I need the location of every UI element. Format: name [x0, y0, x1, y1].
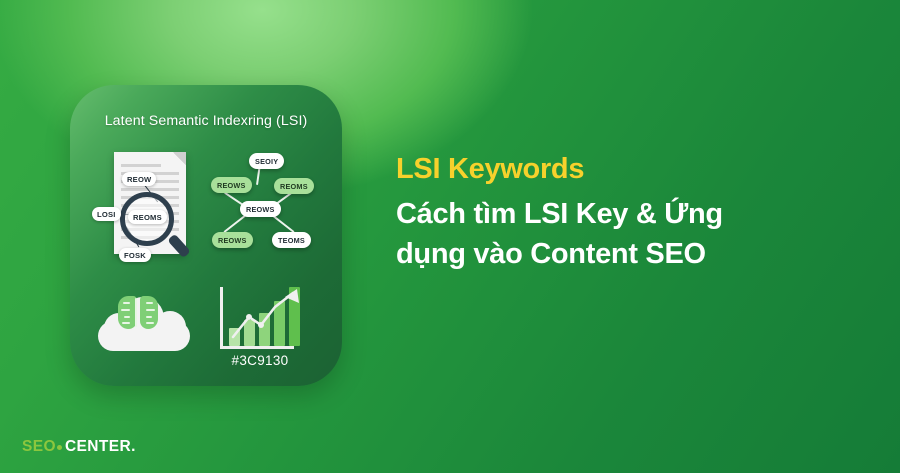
mindmap-illustration: SEOIY REOWS REOMS REOWS REOWS TEOMS: [210, 148, 322, 270]
growth-chart-illustration: #3C9130: [210, 283, 322, 369]
document-fold-corner: [173, 152, 186, 165]
logo-dot-icon: [57, 445, 62, 450]
brain-left-hemisphere: [118, 296, 137, 329]
mindmap-node-left: REOWS: [211, 177, 252, 193]
mindmap-node-right: REOMS: [274, 178, 314, 194]
brand-logo[interactable]: SEO CENTER.: [22, 438, 136, 456]
doc-tag-reoms: REOMS: [128, 210, 167, 224]
headline-line-1: Cách tìm LSI Key & Ứng: [396, 194, 876, 234]
promo-banner: Latent Semantic Indexring (LSI): [0, 0, 900, 473]
document-search-illustration: REOW LOSI REOMS FOSK: [92, 148, 210, 270]
mindmap-node-bottom-right: TEOMS: [272, 232, 311, 248]
doc-tag-reow: REOW: [122, 172, 156, 186]
illustration-card: Latent Semantic Indexring (LSI): [70, 85, 342, 386]
headline-eyebrow: LSI Keywords: [396, 152, 876, 186]
mindmap-node-center: REOWS: [240, 201, 281, 217]
headline-block: LSI Keywords Cách tìm LSI Key & Ứng dụng…: [396, 152, 876, 274]
mindmap-node-bottom-left: REOWS: [212, 232, 253, 248]
mindmap-node-top: SEOIY: [249, 153, 284, 169]
card-title: Latent Semantic Indexring (LSI): [70, 113, 342, 129]
logo-primary-text: SEO: [22, 438, 56, 456]
headline-line-2: dụng vào Content SEO: [396, 234, 876, 274]
doc-tag-losi: LOSI: [92, 207, 121, 221]
brain-right-hemisphere: [140, 296, 159, 329]
logo-secondary-text: CENTER.: [65, 438, 136, 456]
cloud-brain-illustration: [92, 283, 204, 361]
doc-tag-fosk: FOSK: [119, 248, 151, 262]
chart-caption: #3C9130: [210, 353, 310, 368]
brain-icon: [118, 296, 158, 329]
chart-axes: [220, 287, 294, 349]
